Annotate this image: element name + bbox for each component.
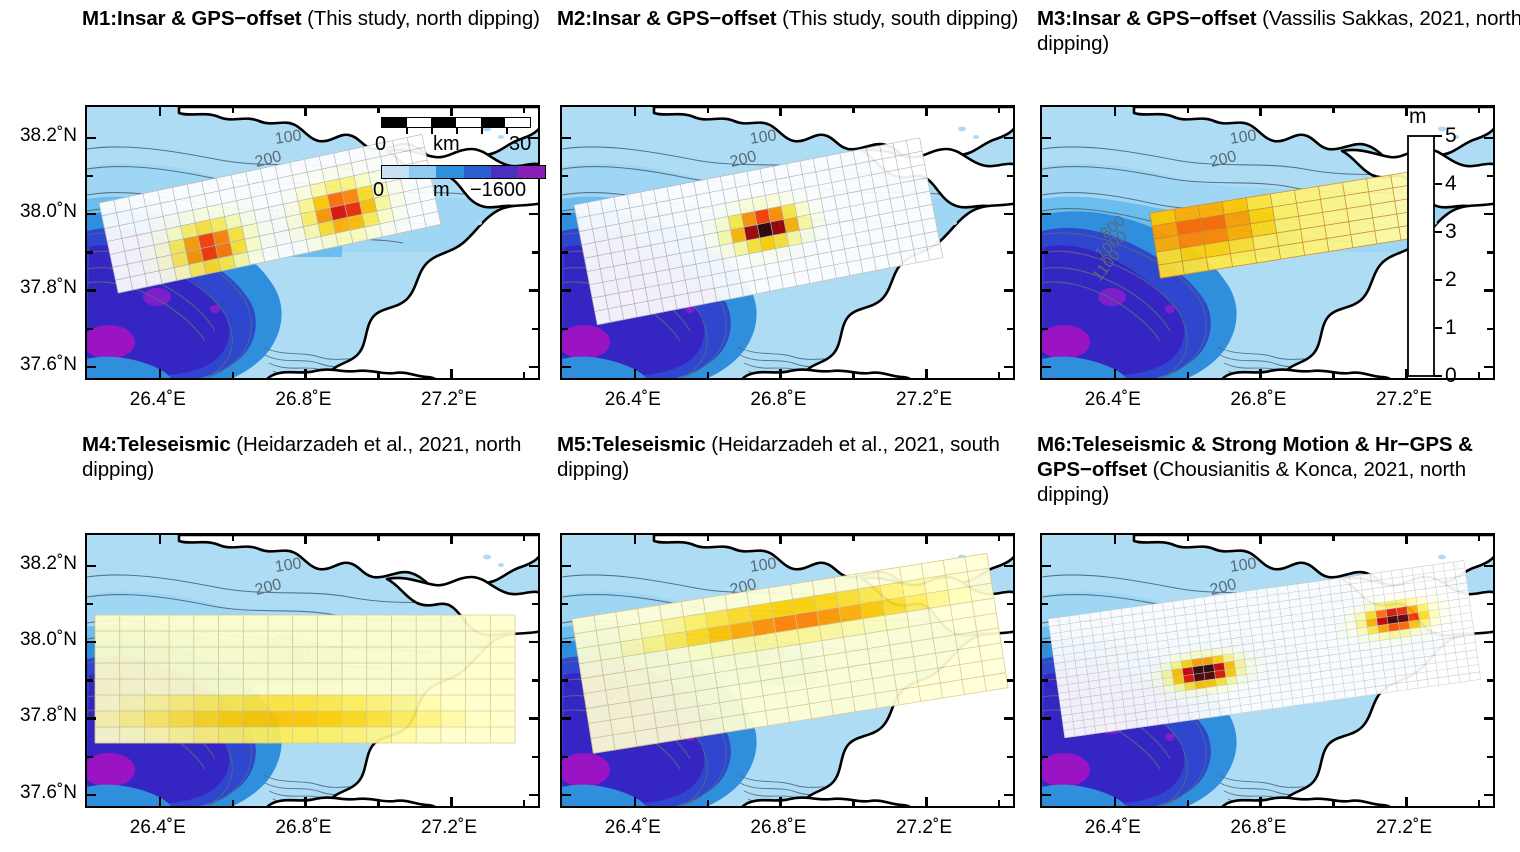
y-tick-minor-right-2 <box>532 328 538 331</box>
y-tick-right-2 <box>1004 717 1013 720</box>
x-tick-1 <box>304 797 307 806</box>
y-tick-right-2 <box>1484 717 1493 720</box>
y-tick-2 <box>1042 289 1051 292</box>
y-tick-right-3 <box>529 366 538 369</box>
y-tick-0 <box>562 137 571 140</box>
panel-title-m2: M2:Insar & GPS−offset (This study, south… <box>557 6 1042 31</box>
x-axis-label-m3-0: 26.4˚E <box>1085 389 1141 411</box>
panel-title-bold-m2: M2:Insar & GPS−offset <box>557 7 776 30</box>
panel-title-bold-m1: M1:Insar & GPS−offset <box>82 7 301 30</box>
panel-title-m6: M6:Teleseismic & Strong Motion & Hr−GPS … <box>1037 432 1520 507</box>
x-axis-label-m2-0: 26.4˚E <box>605 389 661 411</box>
x-tick-minor-2 <box>377 800 380 806</box>
y-axis-label-1: 38.0˚N <box>0 629 77 651</box>
y-tick-1 <box>1042 641 1051 644</box>
panel-title-bold-m3: M3:Insar & GPS−offset <box>1037 7 1256 30</box>
y-tick-minor-right-2 <box>1007 756 1013 759</box>
y-tick-right-0 <box>1484 565 1493 568</box>
y-tick-1 <box>87 641 96 644</box>
x-tick-minor-1 <box>707 372 710 378</box>
x-tick-minor-top-3 <box>998 107 1001 113</box>
x-tick-top-1 <box>779 535 782 544</box>
x-axis-label-m2-1: 26.8˚E <box>750 389 806 411</box>
y-tick-right-1 <box>529 213 538 216</box>
y-tick-minor-right-1 <box>1487 679 1493 682</box>
x-tick-minor-1 <box>707 800 710 806</box>
x-tick-minor-2 <box>852 800 855 806</box>
x-tick-minor-1 <box>1187 800 1190 806</box>
x-tick-minor-top-3 <box>1478 535 1481 541</box>
x-tick-0 <box>159 369 162 378</box>
x-tick-2 <box>1405 797 1408 806</box>
panel-title-m5: M5:Teleseismic (Heidarzadeh et al., 2021… <box>557 432 1042 482</box>
y-tick-right-2 <box>1004 289 1013 292</box>
y-tick-minor-1 <box>562 679 568 682</box>
x-tick-top-2 <box>1405 535 1408 544</box>
x-tick-top-1 <box>304 535 307 544</box>
x-tick-minor-top-1 <box>707 107 710 113</box>
y-tick-1 <box>562 213 571 216</box>
x-tick-minor-3 <box>998 372 1001 378</box>
x-axis-label-m6-0: 26.4˚E <box>1085 817 1141 839</box>
x-tick-top-2 <box>925 107 928 116</box>
panel-title-m3: M3:Insar & GPS−offset (Vassilis Sakkas, … <box>1037 6 1520 56</box>
y-tick-2 <box>87 289 96 292</box>
scale-segment-5 <box>505 118 530 127</box>
y-tick-minor-right-2 <box>1487 756 1493 759</box>
y-tick-minor-right-0 <box>1007 603 1013 606</box>
y-tick-2 <box>1042 717 1051 720</box>
x-tick-0 <box>634 369 637 378</box>
y-tick-minor-right-2 <box>1007 328 1013 331</box>
x-tick-minor-top-1 <box>232 535 235 541</box>
colorbar-unit-label: m <box>1409 105 1427 129</box>
y-tick-0 <box>87 565 96 568</box>
colorbar-label-4: 4 <box>1445 172 1457 196</box>
x-tick-minor-top-3 <box>523 535 526 541</box>
x-tick-1 <box>779 369 782 378</box>
x-tick-minor-2 <box>377 372 380 378</box>
colorbar-label-0: 0 <box>1445 364 1457 388</box>
colorbar-label-3: 3 <box>1445 220 1457 244</box>
y-axis-label-2: 37.8˚N <box>0 277 77 299</box>
x-axis-label-m5-1: 26.8˚E <box>750 817 806 839</box>
panel-title-rest-m1: (This study, north dipping) <box>301 7 539 30</box>
y-tick-minor-2 <box>1042 756 1048 759</box>
colorbar-tick-4 <box>1434 183 1442 185</box>
bathy-swatch-0 <box>382 166 409 178</box>
x-tick-minor-top-2 <box>377 107 380 113</box>
bathy-min-label: 0 <box>373 179 384 202</box>
x-axis-label-m5-0: 26.4˚E <box>605 817 661 839</box>
scale-tick-4 <box>481 128 483 134</box>
scale-bar-group: 0km300m−1600 <box>375 117 550 197</box>
y-tick-0 <box>1042 565 1051 568</box>
y-tick-minor-right-0 <box>1007 175 1013 178</box>
x-tick-top-0 <box>634 107 637 116</box>
x-axis-label-m2-2: 27.2˚E <box>896 389 952 411</box>
bathy-unit-label: m <box>433 179 450 202</box>
x-tick-1 <box>1259 369 1262 378</box>
x-tick-minor-top-1 <box>1187 107 1190 113</box>
panel-title-bold-m4: M4:Teleseismic <box>82 433 231 456</box>
map-panel-m2[interactable]: 10020030040080010001100 <box>560 105 1015 380</box>
x-tick-minor-top-3 <box>523 107 526 113</box>
x-tick-minor-top-3 <box>998 535 1001 541</box>
y-tick-2 <box>562 289 571 292</box>
y-tick-right-1 <box>1004 641 1013 644</box>
y-tick-right-1 <box>1484 641 1493 644</box>
y-tick-right-1 <box>529 641 538 644</box>
x-axis-label-m1-2: 27.2˚E <box>421 389 477 411</box>
scale-tick-5 <box>506 128 508 134</box>
y-tick-right-2 <box>529 289 538 292</box>
x-tick-top-0 <box>634 535 637 544</box>
x-tick-minor-1 <box>232 372 235 378</box>
x-tick-minor-3 <box>523 372 526 378</box>
x-tick-minor-2 <box>1332 800 1335 806</box>
x-axis-label-m4-0: 26.4˚E <box>130 817 186 839</box>
colorbar-tick-1 <box>1434 327 1442 329</box>
y-tick-right-0 <box>1004 565 1013 568</box>
y-tick-minor-2 <box>562 328 568 331</box>
x-tick-top-0 <box>159 535 162 544</box>
x-axis-label-m4-1: 26.8˚E <box>275 817 331 839</box>
x-tick-top-1 <box>1259 107 1262 116</box>
x-tick-minor-top-2 <box>377 535 380 541</box>
x-tick-minor-top-1 <box>1187 535 1190 541</box>
scale-segment-1 <box>407 118 432 127</box>
x-tick-0 <box>159 797 162 806</box>
y-tick-minor-0 <box>1042 175 1048 178</box>
x-axis-label-m3-1: 26.8˚E <box>1230 389 1286 411</box>
x-axis-label-m5-2: 27.2˚E <box>896 817 952 839</box>
bathy-swatch-2 <box>436 166 463 178</box>
panel-title-rest-m2: (This study, south dipping) <box>776 7 1018 30</box>
x-tick-minor-3 <box>1478 800 1481 806</box>
colorbar-label-5: 5 <box>1445 124 1457 148</box>
x-tick-2 <box>450 369 453 378</box>
y-tick-2 <box>87 717 96 720</box>
x-tick-1 <box>304 369 307 378</box>
scale-segment-3 <box>456 118 481 127</box>
panel-title-m1: M1:Insar & GPS−offset (This study, north… <box>82 6 567 31</box>
x-tick-2 <box>925 797 928 806</box>
y-axis-label-0: 38.2˚N <box>0 553 77 575</box>
bathy-swatch-3 <box>464 166 491 178</box>
y-tick-minor-0 <box>562 175 568 178</box>
y-tick-0 <box>1042 137 1051 140</box>
x-tick-minor-top-2 <box>1332 535 1335 541</box>
y-tick-1 <box>87 213 96 216</box>
scale-segment-2 <box>431 118 456 127</box>
map-panel-m4[interactable]: 10020030040080010001100 <box>85 533 540 808</box>
y-tick-3 <box>1042 794 1051 797</box>
y-axis-label-3: 37.6˚N <box>0 782 77 804</box>
x-tick-minor-top-2 <box>1332 107 1335 113</box>
bathy-swatch-4 <box>491 166 518 178</box>
x-tick-0 <box>1114 797 1117 806</box>
bathy-max-label: −1600 <box>470 179 526 202</box>
y-axis-label-2: 37.8˚N <box>0 705 77 727</box>
x-tick-minor-1 <box>232 800 235 806</box>
x-axis-label-m6-2: 27.2˚E <box>1376 817 1432 839</box>
y-tick-minor-0 <box>1042 603 1048 606</box>
panel-title-m4: M4:Teleseismic (Heidarzadeh et al., 2021… <box>82 432 567 482</box>
y-tick-minor-1 <box>1042 679 1048 682</box>
y-tick-1 <box>1042 213 1051 216</box>
x-tick-0 <box>1114 369 1117 378</box>
y-tick-3 <box>87 794 96 797</box>
y-tick-3 <box>562 794 571 797</box>
colorbar-label-2: 2 <box>1445 268 1457 292</box>
y-tick-minor-2 <box>562 756 568 759</box>
y-tick-0 <box>562 565 571 568</box>
y-tick-minor-1 <box>87 251 93 254</box>
colorbar-tick-0 <box>1434 375 1442 377</box>
x-tick-0 <box>634 797 637 806</box>
y-tick-right-0 <box>529 565 538 568</box>
panel-title-bold-m5: M5:Teleseismic <box>557 433 706 456</box>
map-panel-m6[interactable]: 10020030040080010001100 <box>1040 533 1495 808</box>
scale-segment-0 <box>382 118 407 127</box>
y-tick-minor-right-0 <box>1487 603 1493 606</box>
x-tick-top-2 <box>925 535 928 544</box>
distance-scale-bar <box>381 117 531 128</box>
bathy-swatch-5 <box>518 166 545 178</box>
x-tick-minor-top-2 <box>852 535 855 541</box>
map-canvas-m5: 10020030040080010001100 <box>562 535 1013 806</box>
x-tick-minor-top-3 <box>1478 107 1481 113</box>
y-tick-right-3 <box>1004 366 1013 369</box>
x-tick-top-2 <box>450 107 453 116</box>
map-canvas-m6: 10020030040080010001100 <box>1042 535 1493 806</box>
bathy-swatch-1 <box>409 166 436 178</box>
colorbar-label-1: 1 <box>1445 316 1457 340</box>
x-tick-top-1 <box>1259 535 1262 544</box>
map-canvas-m2: 10020030040080010001100 <box>562 107 1013 378</box>
y-tick-minor-0 <box>87 175 93 178</box>
scale-segment-4 <box>481 118 506 127</box>
y-tick-minor-2 <box>1042 328 1048 331</box>
x-tick-minor-2 <box>1332 372 1335 378</box>
x-tick-minor-top-2 <box>852 107 855 113</box>
y-tick-minor-2 <box>87 756 93 759</box>
scale-max-label: 30 <box>509 133 531 156</box>
y-tick-right-3 <box>1484 794 1493 797</box>
y-tick-right-3 <box>1004 794 1013 797</box>
x-axis-label-m4-2: 27.2˚E <box>421 817 477 839</box>
y-tick-1 <box>562 641 571 644</box>
colorbar-tick-3 <box>1434 231 1442 233</box>
x-tick-minor-top-1 <box>707 535 710 541</box>
y-axis-label-3: 37.6˚N <box>0 354 77 376</box>
colorbar-tick-2 <box>1434 279 1442 281</box>
x-tick-minor-1 <box>1187 372 1190 378</box>
scale-unit-label: km <box>433 133 460 156</box>
x-tick-top-2 <box>1405 107 1408 116</box>
x-axis-label-m1-0: 26.4˚E <box>130 389 186 411</box>
x-tick-top-0 <box>1114 535 1117 544</box>
y-tick-minor-right-1 <box>532 679 538 682</box>
y-tick-minor-0 <box>562 603 568 606</box>
y-tick-right-1 <box>1004 213 1013 216</box>
x-tick-top-0 <box>159 107 162 116</box>
x-tick-2 <box>450 797 453 806</box>
y-tick-minor-1 <box>562 251 568 254</box>
y-tick-2 <box>562 717 571 720</box>
y-tick-minor-2 <box>87 328 93 331</box>
x-tick-minor-3 <box>998 800 1001 806</box>
y-tick-right-0 <box>1004 137 1013 140</box>
scale-min-label: 0 <box>375 133 386 156</box>
y-tick-0 <box>87 137 96 140</box>
x-axis-label-m1-1: 26.8˚E <box>275 389 331 411</box>
x-tick-1 <box>1259 797 1262 806</box>
y-tick-minor-right-1 <box>532 251 538 254</box>
x-tick-minor-top-1 <box>232 107 235 113</box>
colorbar-tick-5 <box>1434 135 1442 137</box>
x-tick-top-1 <box>304 107 307 116</box>
y-tick-right-3 <box>529 794 538 797</box>
bathymetry-color-bar <box>381 165 546 179</box>
y-tick-3 <box>562 366 571 369</box>
x-tick-top-0 <box>1114 107 1117 116</box>
y-tick-minor-right-0 <box>532 603 538 606</box>
x-axis-label-m6-1: 26.8˚E <box>1230 817 1286 839</box>
scale-tick-1 <box>406 128 408 134</box>
y-axis-label-0: 38.2˚N <box>0 125 77 147</box>
x-tick-top-1 <box>779 107 782 116</box>
y-tick-right-2 <box>529 717 538 720</box>
x-tick-minor-2 <box>852 372 855 378</box>
y-tick-minor-right-1 <box>1007 679 1013 682</box>
x-tick-1 <box>779 797 782 806</box>
slip-model-figure: M1:Insar & GPS−offset (This study, north… <box>0 0 1520 852</box>
y-tick-minor-1 <box>1042 251 1048 254</box>
y-tick-3 <box>1042 366 1051 369</box>
y-tick-minor-0 <box>87 603 93 606</box>
y-tick-3 <box>87 366 96 369</box>
map-canvas-m4: 10020030040080010001100 <box>87 535 538 806</box>
map-panel-m5[interactable]: 10020030040080010001100 <box>560 533 1015 808</box>
x-tick-2 <box>925 369 928 378</box>
x-tick-top-2 <box>450 535 453 544</box>
y-tick-minor-right-2 <box>532 756 538 759</box>
slip-colorbar-group: m 012345 <box>1407 135 1517 415</box>
y-axis-label-1: 38.0˚N <box>0 201 77 223</box>
x-tick-minor-3 <box>523 800 526 806</box>
y-tick-minor-right-1 <box>1007 251 1013 254</box>
y-tick-minor-1 <box>87 679 93 682</box>
